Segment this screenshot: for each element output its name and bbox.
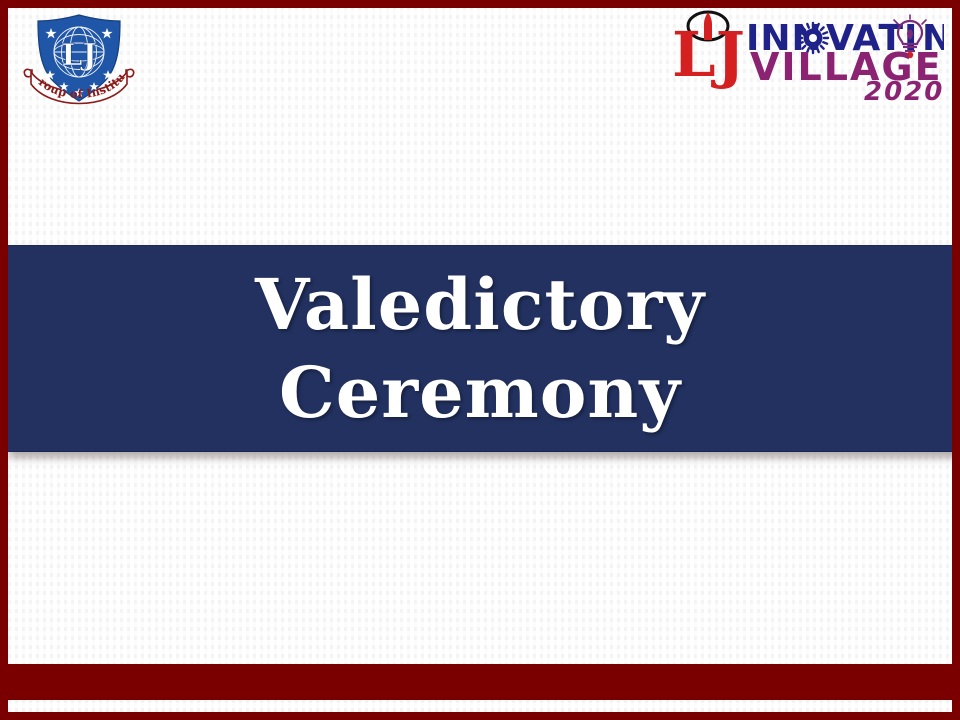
bottom-accent-bar	[8, 664, 952, 700]
slide-canvas: LJ LJ Group of Institutes	[8, 8, 952, 712]
title-banner: Valedictory Ceremony	[8, 245, 952, 452]
event-lj-letters: LJ	[672, 18, 745, 91]
institute-shield-icon: LJ LJ Group of Institutes	[20, 12, 138, 116]
event-logo-icon: LJ INN	[670, 10, 944, 102]
event-lj-mark: LJ	[672, 12, 745, 91]
page-title-line-1: Valedictory	[255, 261, 705, 349]
slide-frame: LJ LJ Group of Institutes	[0, 0, 960, 720]
event-year-text: 2020	[864, 77, 944, 102]
page-title-line-2: Ceremony	[279, 349, 681, 437]
institute-monogram: LJ	[61, 38, 96, 73]
innovation-village-2020-logo: LJ INN	[670, 10, 944, 102]
lj-group-of-institutes-logo: LJ LJ Group of Institutes	[20, 12, 138, 116]
